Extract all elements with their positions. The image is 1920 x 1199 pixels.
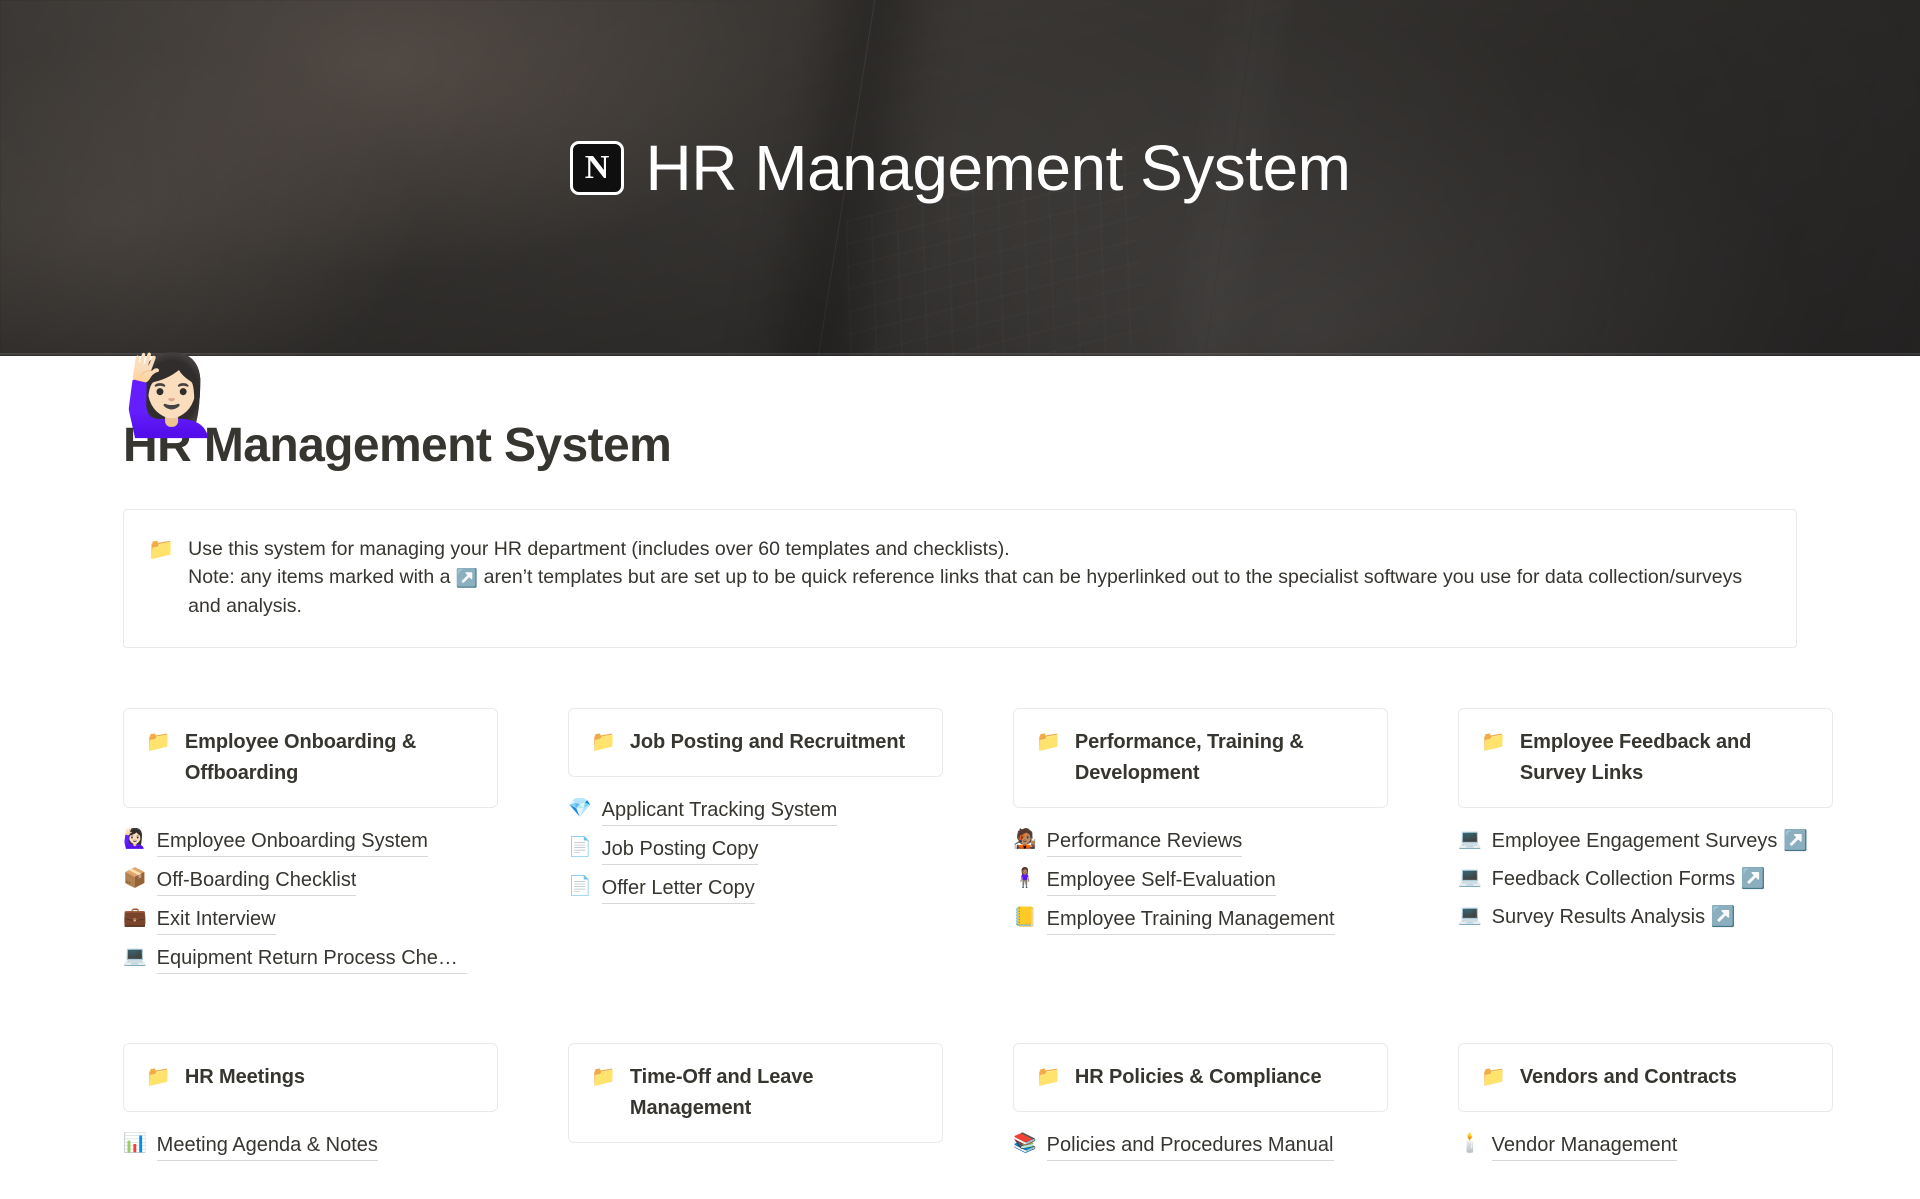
folder-icon: 📁 <box>591 1062 616 1092</box>
page-icon: 📄 <box>568 873 592 902</box>
intro-callout: 📁 Use this system for managing your HR d… <box>123 509 1797 648</box>
list-item-label: Employee Engagement Surveys ↗️ <box>1492 826 1808 856</box>
cover-title: HR Management System <box>646 136 1351 200</box>
link-list: 📚 Policies and Procedures Manual <box>1013 1126 1388 1165</box>
card-title: Job Posting and Recruitment <box>630 727 905 758</box>
briefcase-icon: 💼 <box>123 904 147 933</box>
list-item[interactable]: 💻 Survey Results Analysis ↗️ <box>1458 898 1833 936</box>
notebook-icon: 📒 <box>1013 904 1037 933</box>
card-title: Employee Onboarding & Offboarding <box>185 727 477 789</box>
candle-icon: 🕯️ <box>1458 1130 1482 1159</box>
list-item-label: Feedback Collection Forms ↗️ <box>1492 864 1766 894</box>
link-list: 💻 Employee Engagement Surveys ↗️ 💻 Feedb… <box>1458 822 1833 936</box>
list-item-label: Job Posting Copy <box>602 834 759 865</box>
list-item[interactable]: 💻 Feedback Collection Forms ↗️ <box>1458 860 1833 898</box>
list-item-label: Meeting Agenda & Notes <box>157 1130 378 1161</box>
callout-text: Use this system for managing your HR dep… <box>188 535 1766 620</box>
list-item[interactable]: 💼 Exit Interview <box>123 900 498 939</box>
card-title: HR Meetings <box>185 1062 305 1093</box>
link-list: 🕯️ Vendor Management <box>1458 1126 1833 1165</box>
category-column-vendors-and-contracts: 📁 Vendors and Contracts 🕯️ Vendor Manage… <box>1458 1043 1833 1165</box>
folder-icon: 📁 <box>1036 727 1061 757</box>
list-item-label: Employee Onboarding System <box>157 826 428 857</box>
card-employee-feedback-and-survey-links[interactable]: 📁 Employee Feedback and Survey Links <box>1458 708 1833 808</box>
list-item[interactable]: 💻 Equipment Return Process Checklist <box>123 939 498 978</box>
card-title: Employee Feedback and Survey Links <box>1520 727 1812 789</box>
card-title: Performance, Training & Development <box>1075 727 1367 789</box>
list-item[interactable]: 📊 Meeting Agenda & Notes <box>123 1126 498 1165</box>
callout-line-2: Note: any items marked with a ↗️ aren’t … <box>188 563 1766 620</box>
list-item[interactable]: 📄 Job Posting Copy <box>568 830 943 869</box>
folder-icon: 📁 <box>1036 1062 1061 1092</box>
package-icon: 📦 <box>123 865 147 894</box>
person-icon: 🧑🏽‍🎤 <box>1013 826 1037 855</box>
page-icon: 📄 <box>568 834 592 863</box>
list-item[interactable]: 💻 Employee Engagement Surveys ↗️ <box>1458 822 1833 860</box>
list-item[interactable]: 💎 Applicant Tracking System <box>568 791 943 830</box>
page-title: HR Management System <box>123 418 1797 473</box>
laptop-icon: 💻 <box>1458 902 1482 931</box>
link-list: 📊 Meeting Agenda & Notes <box>123 1126 498 1165</box>
card-job-posting-and-recruitment[interactable]: 📁 Job Posting and Recruitment <box>568 708 943 777</box>
category-column-employee-onboarding-offboarding: 📁 Employee Onboarding & Offboarding 🙋🏻‍♀… <box>123 708 498 978</box>
list-item-label: Employee Self-Evaluation <box>1047 865 1276 896</box>
page-body: 🙋🏻‍♀️ HR Management System 📁 Use this sy… <box>0 418 1920 1165</box>
card-hr-policies-compliance[interactable]: 📁 HR Policies & Compliance <box>1013 1043 1388 1112</box>
folder-icon: 📁 <box>146 727 171 757</box>
notion-logo-letter: N <box>585 151 609 185</box>
callout-note-before: Note: any items marked with a <box>188 566 456 588</box>
list-item-label: Policies and Procedures Manual <box>1047 1130 1334 1161</box>
category-column-performance-training-development: 📁 Performance, Training & Development 🧑🏽… <box>1013 708 1388 978</box>
card-vendors-and-contracts[interactable]: 📁 Vendors and Contracts <box>1458 1043 1833 1112</box>
category-column-hr-policies-compliance: 📁 HR Policies & Compliance 📚 Policies an… <box>1013 1043 1388 1165</box>
standing-person-icon: 🧍🏽‍♀️ <box>1013 865 1037 894</box>
folder-icon: 📁 <box>148 535 174 620</box>
category-column-time-off-leave-management: 📁 Time-Off and Leave Management <box>568 1043 943 1165</box>
list-item-label: Equipment Return Process Checklist <box>157 943 467 974</box>
card-title: Vendors and Contracts <box>1520 1062 1737 1093</box>
list-item[interactable]: 📚 Policies and Procedures Manual <box>1013 1126 1388 1165</box>
list-item[interactable]: 📄 Offer Letter Copy <box>568 869 943 908</box>
bar-chart-icon: 📊 <box>123 1130 147 1159</box>
list-item[interactable]: 🕯️ Vendor Management <box>1458 1126 1833 1165</box>
category-grid-row-2: 📁 HR Meetings 📊 Meeting Agenda & Notes 📁… <box>123 1043 1797 1165</box>
laptop-icon: 💻 <box>123 943 147 972</box>
category-column-job-posting-recruitment: 📁 Job Posting and Recruitment 💎 Applican… <box>568 708 943 978</box>
card-time-off-and-leave-management[interactable]: 📁 Time-Off and Leave Management <box>568 1043 943 1143</box>
card-title: HR Policies & Compliance <box>1075 1062 1322 1093</box>
card-hr-meetings[interactable]: 📁 HR Meetings <box>123 1043 498 1112</box>
list-item[interactable]: 🧍🏽‍♀️ Employee Self-Evaluation <box>1013 861 1388 900</box>
gem-icon: 💎 <box>568 795 592 824</box>
callout-line-1: Use this system for managing your HR dep… <box>188 535 1766 563</box>
cover-bottom-edge <box>0 353 1920 356</box>
link-list: 🙋🏻‍♀️ Employee Onboarding System 📦 Off-B… <box>123 822 498 978</box>
folder-icon: 📁 <box>1481 1062 1506 1092</box>
folder-icon: 📁 <box>146 1062 171 1092</box>
laptop-icon: 💻 <box>1458 826 1482 855</box>
list-item-label: Off-Boarding Checklist <box>157 865 357 896</box>
laptop-icon: 💻 <box>1458 864 1482 893</box>
link-list: 🧑🏽‍🎤 Performance Reviews 🧍🏽‍♀️ Employee … <box>1013 822 1388 939</box>
person-raising-hand-icon: 🙋🏻‍♀️ <box>123 826 147 855</box>
list-item-label: Offer Letter Copy <box>602 873 755 904</box>
list-item-label: Performance Reviews <box>1047 826 1243 857</box>
books-icon: 📚 <box>1013 1130 1037 1159</box>
folder-icon: 📁 <box>1481 727 1506 757</box>
list-item-label: Exit Interview <box>157 904 276 935</box>
card-performance-training-development[interactable]: 📁 Performance, Training & Development <box>1013 708 1388 808</box>
external-link-icon: ↗️ <box>456 568 478 588</box>
list-item[interactable]: 🧑🏽‍🎤 Performance Reviews <box>1013 822 1388 861</box>
list-item[interactable]: 🙋🏻‍♀️ Employee Onboarding System <box>123 822 498 861</box>
list-item-label: Vendor Management <box>1492 1130 1678 1161</box>
card-title: Time-Off and Leave Management <box>630 1062 922 1124</box>
category-column-hr-meetings: 📁 HR Meetings 📊 Meeting Agenda & Notes <box>123 1043 498 1165</box>
cover-title-row: N HR Management System <box>0 136 1920 200</box>
list-item-label: Employee Training Management <box>1047 904 1335 935</box>
notion-logo-icon: N <box>570 141 624 195</box>
list-item-label: Survey Results Analysis ↗️ <box>1492 902 1736 932</box>
page-cover: N HR Management System <box>0 0 1920 356</box>
page-icon-emoji[interactable]: 🙋🏻‍♀️ <box>123 356 220 434</box>
list-item[interactable]: 📦 Off-Boarding Checklist <box>123 861 498 900</box>
list-item[interactable]: 📒 Employee Training Management <box>1013 900 1388 939</box>
list-item-label: Applicant Tracking System <box>602 795 838 826</box>
category-grid-row-1: 📁 Employee Onboarding & Offboarding 🙋🏻‍♀… <box>123 708 1797 978</box>
folder-icon: 📁 <box>591 727 616 757</box>
card-employee-onboarding-offboarding[interactable]: 📁 Employee Onboarding & Offboarding <box>123 708 498 808</box>
link-list: 💎 Applicant Tracking System 📄 Job Postin… <box>568 791 943 908</box>
category-column-employee-feedback-survey-links: 📁 Employee Feedback and Survey Links 💻 E… <box>1458 708 1833 978</box>
